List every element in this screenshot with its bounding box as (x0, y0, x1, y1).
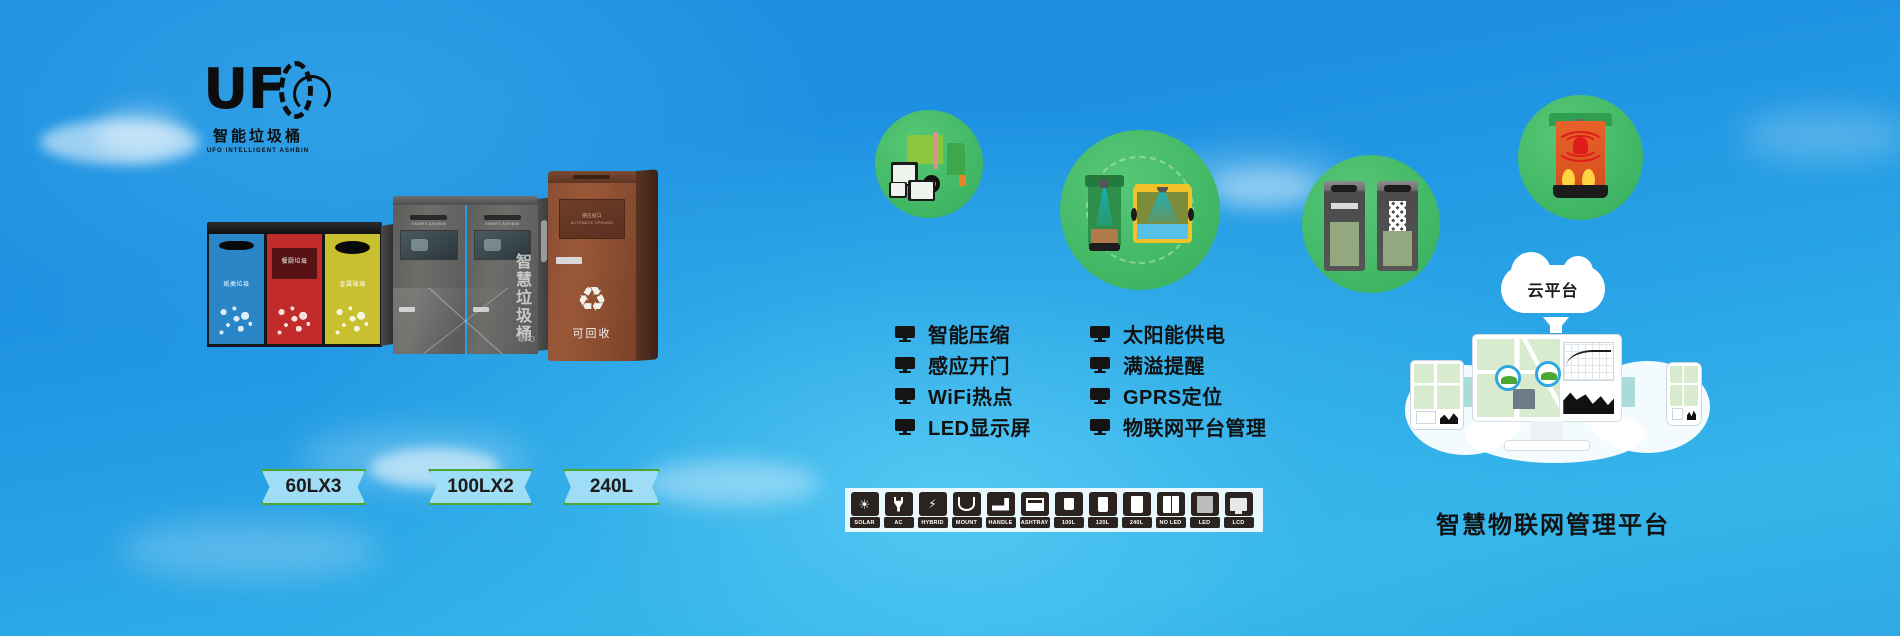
feature-item: 满溢提醒 (1090, 349, 1267, 380)
bin-lid (1384, 185, 1410, 192)
laptop-device-icon (908, 180, 935, 201)
bin-base (1553, 185, 1609, 198)
bin-wheel-right (1188, 208, 1194, 221)
sun-icon: ☀ (851, 492, 879, 516)
spec-label: ASHTRAY (1020, 517, 1050, 528)
promotional-banner: UF 智能垃圾桶 UFO INTELLIGENT ASHBIN 纸类垃圾 餐厨垃… (0, 0, 1900, 636)
bin-panel-english: SMART ASHBIN (393, 221, 465, 226)
compartment-upper: 金属玻璃 (325, 234, 380, 291)
bin-compartment-metal-glass: 金属玻璃 (325, 234, 380, 344)
deposit-slot-icon (219, 241, 254, 250)
spec-icon-hybrid: ⚡ HYBRID (917, 492, 948, 528)
tablet-device-icon (889, 182, 907, 198)
feature-item: 智能压缩 (895, 318, 1031, 349)
logo-english-name: UFO INTELLIGENT ASHBIN (203, 148, 313, 154)
ashtray-icon (1021, 492, 1049, 516)
spec-label: HANDLE (986, 517, 1016, 528)
card-reader (556, 257, 582, 264)
truck-body (907, 135, 944, 164)
bin-top-cover (548, 171, 636, 183)
spec-label: MOUNT (952, 517, 982, 528)
bin-240l-icon (1123, 492, 1151, 516)
feature-item: WiFi热点 (895, 380, 1031, 411)
monitor-stand (1531, 421, 1563, 443)
feature-item: 太阳能供电 (1090, 318, 1267, 349)
monitor-screen (1477, 339, 1617, 417)
monitor-icon (1090, 326, 1110, 342)
bin-vent (541, 220, 547, 263)
phone-chart-view (1670, 406, 1698, 422)
device-connector (1619, 377, 1635, 407)
map-pin-icon (1495, 365, 1521, 391)
map-pin-icon (1535, 361, 1561, 387)
monitor-icon (1090, 419, 1110, 435)
handle-icon (987, 492, 1015, 516)
compaction-illustration (1320, 173, 1422, 275)
monitor-icon (895, 326, 915, 342)
phone-device (1667, 363, 1701, 425)
ultrasonic-cone (1146, 192, 1179, 222)
bin-body: 纸类垃圾 餐厨垃圾 金属玻璃 (207, 234, 382, 347)
facility-icon (1513, 389, 1535, 409)
waste-illustration (331, 301, 374, 338)
feature-label: 感应开门 (928, 350, 1010, 379)
feature-list-left: 智能压缩 感应开门 WiFi热点 LED显示屏 (895, 318, 1031, 442)
waste-illustration (215, 301, 258, 338)
spec-label: SOLAR (850, 517, 880, 528)
feature-label: WiFi热点 (928, 381, 1013, 410)
spec-label: AC (884, 517, 914, 528)
compartment-upper: 餐厨垃圾 (267, 234, 322, 291)
compartment-lower (325, 291, 380, 344)
compartment-label: 金属玻璃 (325, 279, 380, 288)
capacity-banner-240l: 240L (563, 469, 660, 505)
hybrid-icon: ⚡ (919, 492, 947, 516)
bin-triple-compartment: 纸类垃圾 餐厨垃圾 金属玻璃 (207, 222, 382, 347)
cloud-decoration (40, 120, 200, 164)
waste-fill (1091, 229, 1119, 243)
tablet-map-view (1414, 364, 1460, 409)
feature-item: 物联网平台管理 (1090, 411, 1267, 442)
spec-icon-handle: HANDLE (985, 492, 1016, 528)
cloud-platform-badge: 云平台 (1501, 265, 1605, 313)
phone-map-view (1670, 366, 1698, 406)
fill-level-illustration (1081, 151, 1199, 269)
bin-120l-icon (1089, 492, 1117, 516)
feature-label: GPRS定位 (1123, 381, 1223, 410)
spec-label: NO LED (1156, 517, 1186, 528)
monitor-icon (895, 419, 915, 435)
spec-label: 100L (1054, 517, 1084, 528)
fill-level-sensor-icon (1060, 130, 1220, 290)
spec-label: 120L (1088, 517, 1118, 528)
feature-label: 满溢提醒 (1123, 350, 1205, 379)
monitor-icon (1090, 388, 1110, 404)
bin-top-cover (207, 222, 382, 234)
map-panel (1477, 339, 1559, 417)
spec-label: 240L (1122, 517, 1152, 528)
feature-label: 太阳能供电 (1123, 319, 1226, 348)
truck-illustration (889, 124, 969, 204)
feature-label: 智能压缩 (928, 319, 1010, 348)
door-label-cn: 感应投口 (560, 213, 624, 219)
press-plate (1331, 203, 1359, 209)
led-icon (1191, 492, 1219, 516)
compartment-lower (209, 291, 264, 344)
platform-title: 智慧物联网管理平台 (1388, 505, 1718, 540)
spec-icon-strip: ☀ SOLAR AC ⚡ HYBRID MOUNT HANDLE ASHTRAY… (845, 488, 1263, 532)
bin-compartment-paper: 纸类垃圾 (209, 234, 264, 344)
bin-glass-reflection (393, 288, 538, 354)
logo-wordmark-row: UF (203, 57, 313, 123)
cloud-decoration (95, 108, 185, 158)
bin-100l-icon (1055, 492, 1083, 516)
feature-item: LED显示屏 (895, 411, 1031, 442)
spec-icon-120l: 120L (1087, 492, 1118, 528)
capacity-banner-100lx2: 100LX2 (428, 469, 533, 505)
bin-display-screen (400, 230, 458, 260)
logo-wordmark: UF (203, 62, 285, 118)
bin-panel-english: SMART ASHBIN (467, 221, 539, 226)
truck-lift-arm (934, 132, 938, 169)
truck-light (959, 175, 966, 186)
ufo-ring-icon (279, 61, 313, 119)
bin-twin-smart: SMART ASHBIN SMART ASHBIN 智慧垃圾桶 UFO (393, 196, 538, 354)
spec-icon-100l: 100L (1053, 492, 1084, 528)
bin-side-panel (635, 169, 658, 361)
spec-icon-mount: MOUNT (951, 492, 982, 528)
collection-truck-monitoring-icon (875, 110, 983, 218)
bin-wheel-left (1131, 208, 1137, 221)
spec-icon-led: LED (1189, 492, 1220, 528)
recycle-label: 可回收 (548, 325, 636, 341)
sensor-module (1100, 179, 1108, 188)
spec-label: HYBRID (918, 517, 948, 528)
compaction-bin-left (1324, 181, 1365, 271)
sensor-strip-icon (484, 215, 521, 220)
cloud-decoration (1740, 110, 1900, 162)
no-led-icon (1157, 492, 1185, 516)
truck-cab (947, 143, 965, 175)
bin-wheels (1089, 243, 1120, 251)
alarm-bell-icon (1573, 137, 1588, 154)
line-chart (1563, 342, 1614, 381)
deposit-slot-icon (335, 241, 370, 254)
compaction-bin-right (1377, 181, 1418, 271)
brand-logo: UF 智能垃圾桶 UFO INTELLIGENT ASHBIN (203, 57, 313, 153)
mount-icon (953, 492, 981, 516)
ultrasonic-cone (1096, 188, 1113, 226)
feature-label: 物联网平台管理 (1123, 412, 1267, 441)
bin-body: 感应投口 AUTOMATIC OPENING ♻ 可回收 (548, 183, 636, 361)
compaction-screw-icon (1389, 201, 1405, 232)
iot-platform-illustration: 云平台 (1405, 265, 1705, 470)
spec-icon-solar: ☀ SOLAR (849, 492, 880, 528)
bin-brand-mark: UFO (518, 335, 535, 344)
area-chart (1563, 384, 1614, 414)
bin-top-cover (393, 196, 538, 205)
logo-chinese-name: 智能垃圾桶 (203, 125, 313, 146)
compartment-lower (267, 291, 322, 344)
recycle-icon: ♻ (548, 283, 636, 317)
spec-label: LED (1190, 517, 1220, 528)
cloud-decoration (1210, 170, 1320, 208)
spec-icon-240l: 240L (1121, 492, 1152, 528)
monitor-icon (1090, 357, 1110, 373)
compartment-label: 餐厨垃圾 (267, 256, 322, 265)
water-fill (1137, 224, 1188, 240)
cloud-platform-label: 云平台 (1527, 277, 1578, 301)
download-arrow-icon (1543, 317, 1569, 333)
fire-alarm-illustration (1534, 111, 1627, 204)
monitor-icon (895, 388, 915, 404)
spec-label: LCD (1224, 517, 1254, 528)
door-label-en: AUTOMATIC OPENING (560, 221, 624, 225)
monitor-base (1505, 441, 1589, 450)
cloud-decoration (640, 460, 820, 506)
charts-panel (1559, 339, 1617, 417)
feature-label: LED显示屏 (928, 412, 1031, 441)
lcd-icon (1225, 492, 1253, 516)
bin-lid (1331, 185, 1357, 192)
plug-icon (885, 492, 913, 516)
bin-grille (573, 175, 610, 179)
tablet-chart-view (1414, 409, 1460, 426)
cloud-decoration (120, 520, 380, 580)
bin-sensor-door: 感应投口 AUTOMATIC OPENING (559, 199, 625, 239)
bin-240l-recycling: 感应投口 AUTOMATIC OPENING ♻ 可回收 (548, 171, 636, 361)
sensor-strip-icon (410, 215, 447, 220)
feature-item: 感应开门 (895, 349, 1031, 380)
waste-fill (1383, 231, 1412, 265)
spec-icon-ac: AC (883, 492, 914, 528)
bin-compartment-kitchen: 餐厨垃圾 (267, 234, 322, 344)
monitor-icon (895, 357, 915, 373)
spec-icon-ashtray: ASHTRAY (1019, 492, 1050, 528)
spec-icon-no-led: NO LED (1155, 492, 1186, 528)
green-bin (1088, 182, 1121, 246)
feature-item: GPRS定位 (1090, 380, 1267, 411)
capacity-banner-60lx3: 60LX3 (261, 469, 366, 505)
compartment-label: 纸类垃圾 (209, 279, 264, 288)
feature-list-right: 太阳能供电 满溢提醒 GPRS定位 物联网平台管理 (1090, 318, 1267, 442)
spec-icon-lcd: LCD (1223, 492, 1254, 528)
fire-alarm-icon (1518, 95, 1643, 220)
compartment-upper: 纸类垃圾 (209, 234, 264, 291)
yellow-bin (1133, 186, 1192, 243)
tablet-device (1411, 361, 1463, 429)
desktop-monitor (1473, 335, 1621, 421)
waste-illustration (273, 301, 316, 338)
waste-fill (1330, 222, 1359, 265)
